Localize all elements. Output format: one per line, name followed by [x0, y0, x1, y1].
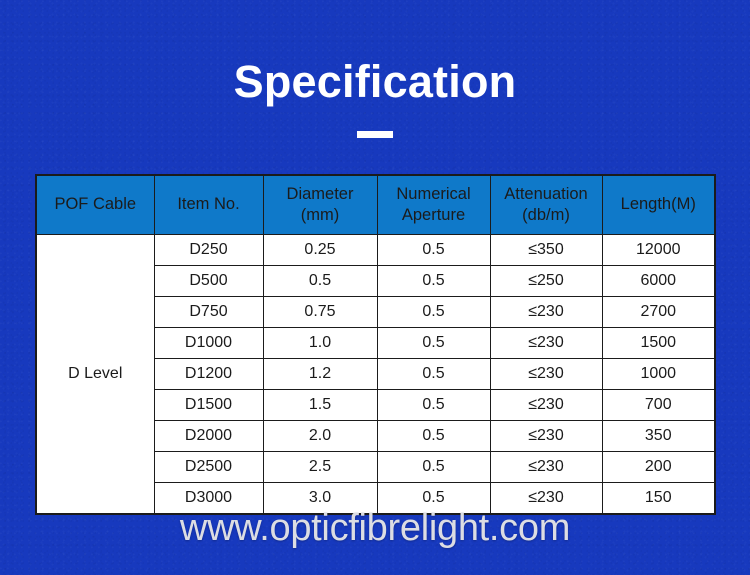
- column-header-item-no-line1: Item No.: [155, 194, 263, 215]
- cell-numerical-aperture: 0.5: [377, 297, 490, 328]
- cell-diameter: 1.2: [263, 359, 377, 390]
- specification-table-container: POF Cable Item No. Diameter (mm) Numeric…: [35, 174, 714, 503]
- column-header-numerical-aperture: Numerical Aperture: [377, 175, 490, 235]
- cell-length: 6000: [602, 266, 715, 297]
- cell-item-no: D1500: [154, 390, 263, 421]
- column-header-length-line1: Length(M): [603, 194, 715, 215]
- cell-attenuation: ≤230: [490, 328, 602, 359]
- cell-numerical-aperture: 0.5: [377, 328, 490, 359]
- page-title: Specification: [0, 59, 750, 104]
- cell-numerical-aperture: 0.5: [377, 390, 490, 421]
- cell-attenuation: ≤230: [490, 390, 602, 421]
- cell-numerical-aperture: 0.5: [377, 421, 490, 452]
- specification-table: POF Cable Item No. Diameter (mm) Numeric…: [35, 174, 716, 515]
- cell-attenuation: ≤230: [490, 359, 602, 390]
- cell-attenuation: ≤230: [490, 452, 602, 483]
- cell-diameter: 0.5: [263, 266, 377, 297]
- cell-length: 12000: [602, 235, 715, 266]
- cell-numerical-aperture: 0.5: [377, 452, 490, 483]
- cell-length: 2700: [602, 297, 715, 328]
- cell-attenuation: ≤230: [490, 421, 602, 452]
- cell-numerical-aperture: 0.5: [377, 235, 490, 266]
- cell-numerical-aperture: 0.5: [377, 266, 490, 297]
- column-header-diameter: Diameter (mm): [263, 175, 377, 235]
- column-header-numerical-aperture-line2: Aperture: [378, 205, 490, 226]
- cell-item-no: D500: [154, 266, 263, 297]
- column-header-length: Length(M): [602, 175, 715, 235]
- cell-diameter: 1.5: [263, 390, 377, 421]
- column-header-item-no: Item No.: [154, 175, 263, 235]
- column-header-attenuation-line2: (db/m): [491, 205, 602, 226]
- column-header-diameter-line2: (mm): [264, 205, 377, 226]
- column-header-diameter-line1: Diameter: [264, 184, 377, 205]
- column-header-attenuation: Attenuation (db/m): [490, 175, 602, 235]
- cell-attenuation: ≤350: [490, 235, 602, 266]
- column-header-numerical-aperture-line1: Numerical: [378, 184, 490, 205]
- table-body: D LevelD2500.250.5≤35012000D5000.50.5≤25…: [36, 235, 715, 515]
- cell-item-no: D750: [154, 297, 263, 328]
- cell-diameter: 2.0: [263, 421, 377, 452]
- cell-length: 200: [602, 452, 715, 483]
- cell-diameter: 2.5: [263, 452, 377, 483]
- table-row: D LevelD2500.250.5≤35012000: [36, 235, 715, 266]
- site-watermark: www.opticfibrelight.com: [0, 508, 750, 550]
- cell-item-no: D1000: [154, 328, 263, 359]
- column-header-attenuation-line1: Attenuation: [491, 184, 602, 205]
- table-header: POF Cable Item No. Diameter (mm) Numeric…: [36, 175, 715, 235]
- table-header-row: POF Cable Item No. Diameter (mm) Numeric…: [36, 175, 715, 235]
- cell-item-no: D2500: [154, 452, 263, 483]
- level-cell: D Level: [36, 235, 154, 515]
- cell-diameter: 0.75: [263, 297, 377, 328]
- column-header-pof-cable-line1: POF Cable: [37, 194, 154, 215]
- cell-item-no: D2000: [154, 421, 263, 452]
- column-header-pof-cable: POF Cable: [36, 175, 154, 235]
- cell-length: 350: [602, 421, 715, 452]
- title-divider: [357, 131, 393, 138]
- cell-length: 1000: [602, 359, 715, 390]
- cell-diameter: 0.25: [263, 235, 377, 266]
- cell-length: 1500: [602, 328, 715, 359]
- cell-diameter: 1.0: [263, 328, 377, 359]
- cell-item-no: D1200: [154, 359, 263, 390]
- cell-item-no: D250: [154, 235, 263, 266]
- cell-attenuation: ≤250: [490, 266, 602, 297]
- cell-attenuation: ≤230: [490, 297, 602, 328]
- cell-numerical-aperture: 0.5: [377, 359, 490, 390]
- cell-length: 700: [602, 390, 715, 421]
